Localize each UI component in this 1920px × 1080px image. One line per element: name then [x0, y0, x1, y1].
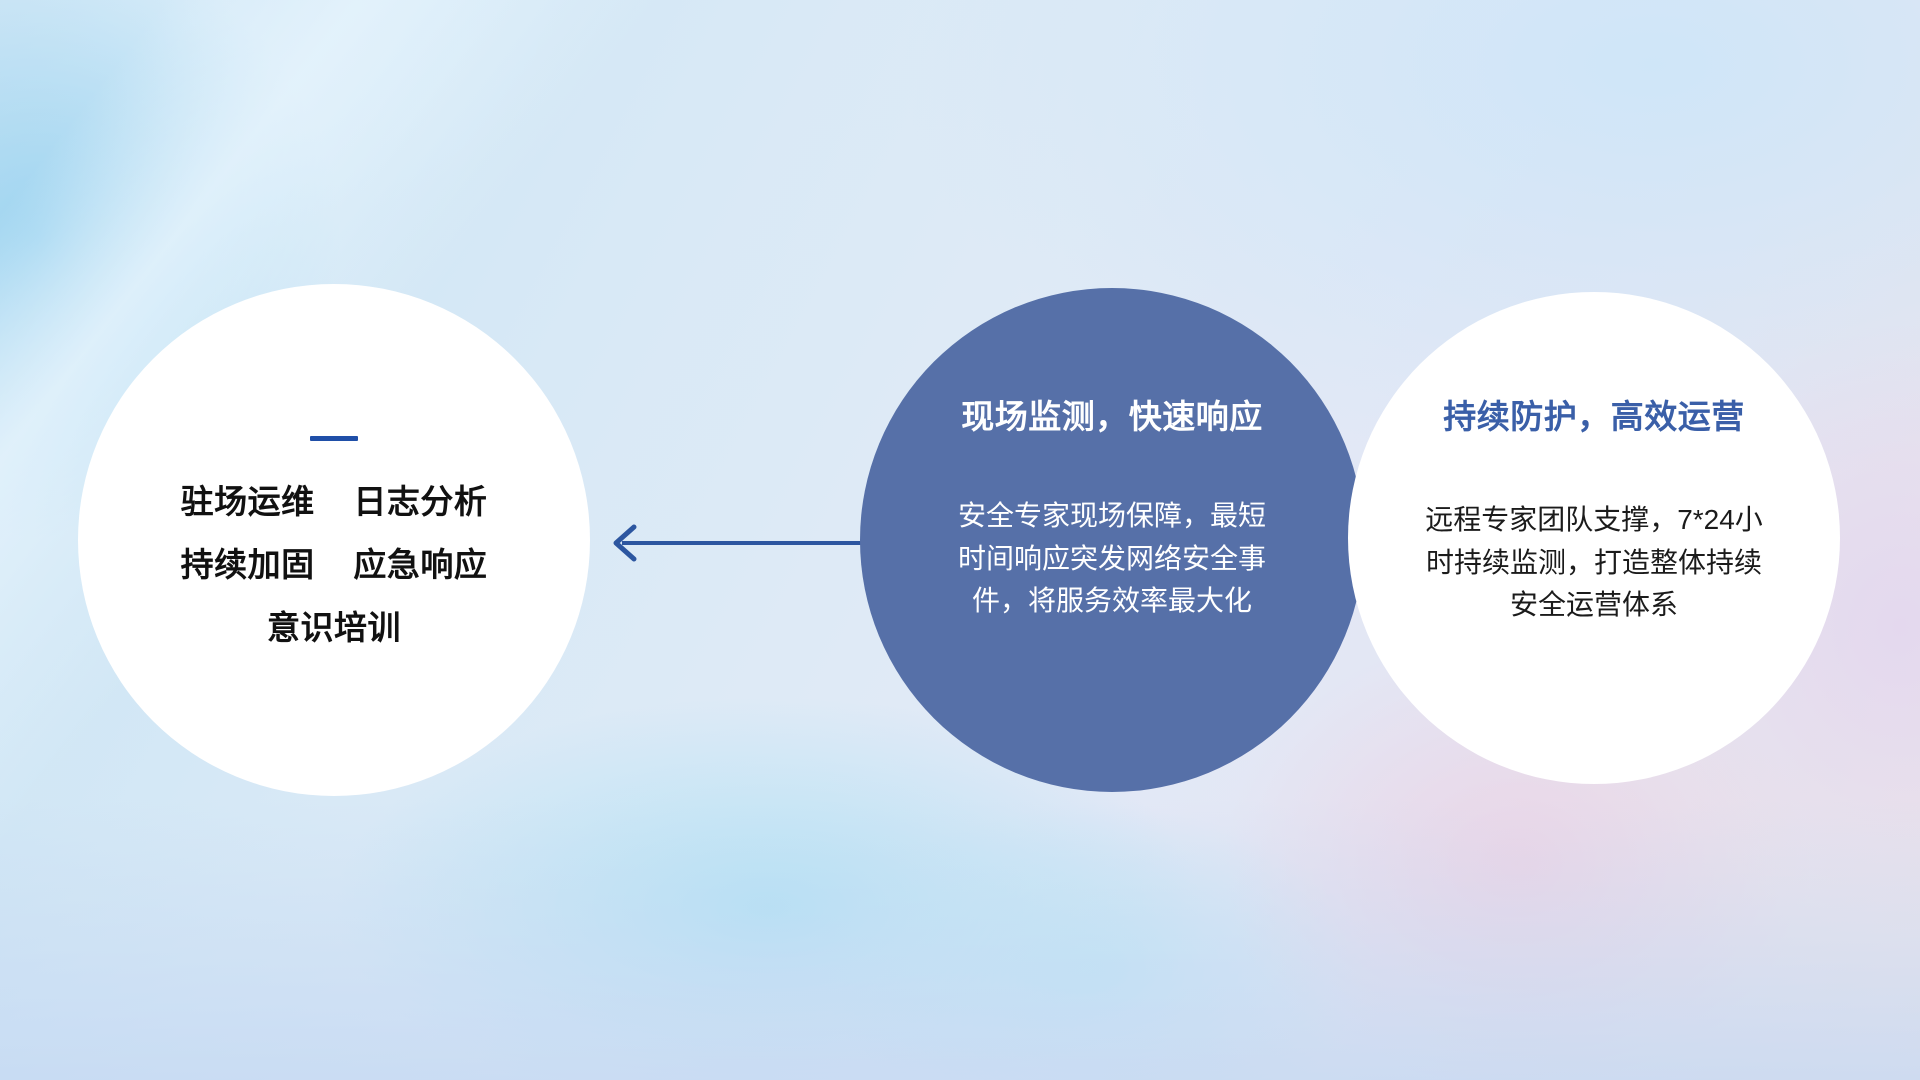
divider-dash	[310, 436, 358, 441]
service-circle-onsite[interactable]: 现场监测，快速响应 安全专家现场保障，最短时间响应突发网络安全事件，将服务效率最…	[860, 288, 1364, 792]
service-circle-remote[interactable]: 持续防护，高效运营 远程专家团队支撑，7*24小时持续监测，打造整体持续安全运营…	[1348, 292, 1840, 784]
onsite-body-text: 安全专家现场保障，最短时间响应突发网络安全事件，将服务效率最大化	[947, 495, 1277, 623]
capability-circle-left[interactable]: 驻场运维 日志分析 持续加固 应急响应 意识培训	[78, 284, 590, 796]
capability-line-3: 意识培训	[267, 611, 401, 644]
capability-line-1: 驻场运维 日志分析	[181, 485, 488, 518]
onsite-heading: 现场监测，快速响应	[961, 400, 1263, 433]
remote-heading: 持续防护，高效运营	[1443, 400, 1745, 433]
slide-canvas: 驻场运维 日志分析 持续加固 应急响应 意识培训 现场监测，快速响应 安全专家现…	[0, 0, 1920, 1080]
capability-line-2: 持续加固 应急响应	[181, 548, 488, 581]
remote-body-text: 远程专家团队支撑，7*24小时持续监测，打造整体持续安全运营体系	[1414, 499, 1774, 627]
capability-keyword-list: 驻场运维 日志分析 持续加固 应急响应 意识培训	[181, 485, 488, 644]
flow-arrow-icon	[600, 520, 870, 566]
